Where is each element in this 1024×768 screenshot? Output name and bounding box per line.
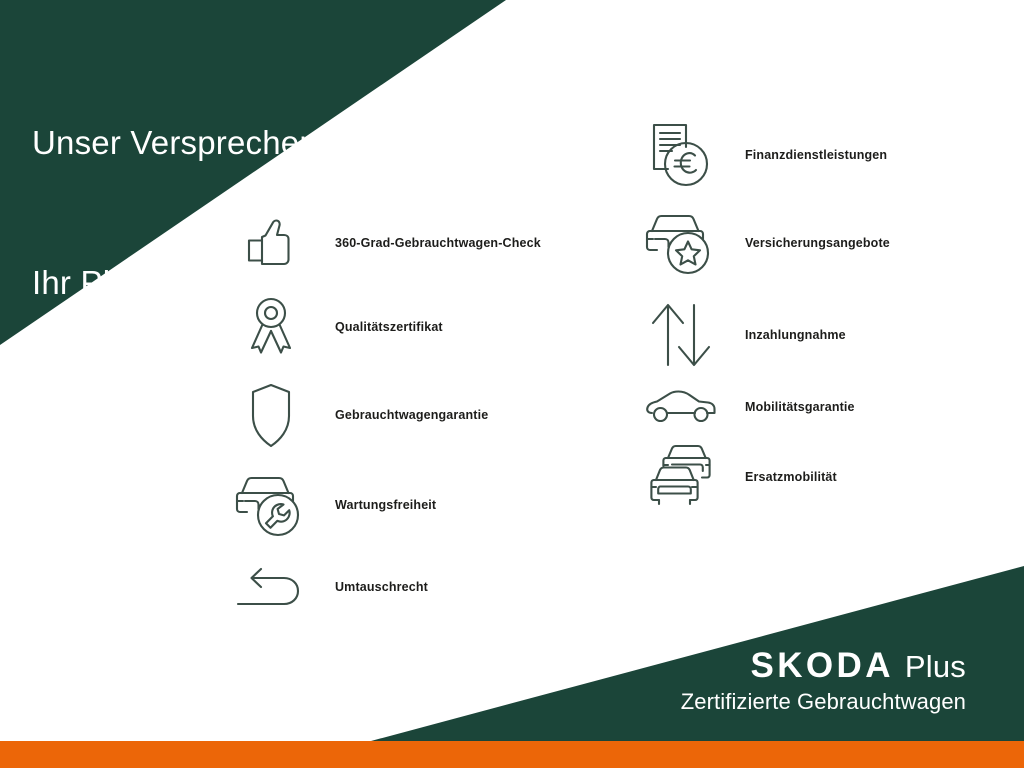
- feature-item[interactable]: Umtauschrecht: [232, 548, 428, 626]
- promo-banner: Unser Versprechen. Ihr Plus. 360-Grad-Ge…: [0, 0, 1024, 768]
- title-line-1: Unser Versprechen.: [32, 120, 327, 167]
- brand-logo: SKODA Plus Zertifizierte Gebrauchtwagen: [681, 648, 966, 714]
- feature-item[interactable]: Mobilitätsgarantie: [642, 368, 855, 446]
- thumbs-up-icon: [232, 204, 310, 282]
- logo-wordmark-row: SKODA Plus: [681, 648, 966, 683]
- feature-item[interactable]: 360-Grad-Gebrauchtwagen-Check: [232, 204, 541, 282]
- feature-label: Wartungsfreiheit: [335, 498, 436, 512]
- car-wrench-icon: [232, 466, 310, 544]
- document-euro-icon: [642, 116, 720, 194]
- feature-label: Umtauschrecht: [335, 580, 428, 594]
- feature-label: Qualitätszertifikat: [335, 320, 443, 334]
- feature-item[interactable]: Versicherungsangebote: [642, 204, 890, 282]
- car-star-icon: [642, 204, 720, 282]
- feature-label: 360-Grad-Gebrauchtwagen-Check: [335, 236, 541, 250]
- feature-item[interactable]: Qualitätszertifikat: [232, 288, 443, 366]
- skoda-wordmark: SKODA: [750, 648, 893, 683]
- feature-item[interactable]: Gebrauchtwagengarantie: [232, 376, 488, 454]
- logo-subtitle: Zertifizierte Gebrauchtwagen: [681, 690, 966, 714]
- feature-item[interactable]: Wartungsfreiheit: [232, 466, 436, 544]
- car-side-icon: [642, 368, 720, 446]
- up-down-arrows-icon: [642, 296, 720, 374]
- orange-bottom-bar: [0, 741, 1024, 768]
- feature-label: Versicherungsangebote: [745, 236, 890, 250]
- award-rosette-icon: [232, 288, 310, 366]
- plus-wordmark: Plus: [905, 651, 966, 682]
- return-arrow-icon: [232, 548, 310, 626]
- shield-icon: [232, 376, 310, 454]
- feature-item[interactable]: Finanzdienstleistungen: [642, 116, 887, 194]
- feature-label: Mobilitätsgarantie: [745, 400, 855, 414]
- feature-label: Inzahlungnahme: [745, 328, 846, 342]
- feature-label: Finanzdienstleistungen: [745, 148, 887, 162]
- feature-item[interactable]: Ersatzmobilität: [642, 438, 837, 516]
- feature-item[interactable]: Inzahlungnahme: [642, 296, 846, 374]
- two-cars-icon: [642, 438, 720, 516]
- feature-label: Gebrauchtwagengarantie: [335, 408, 488, 422]
- feature-label: Ersatzmobilität: [745, 470, 837, 484]
